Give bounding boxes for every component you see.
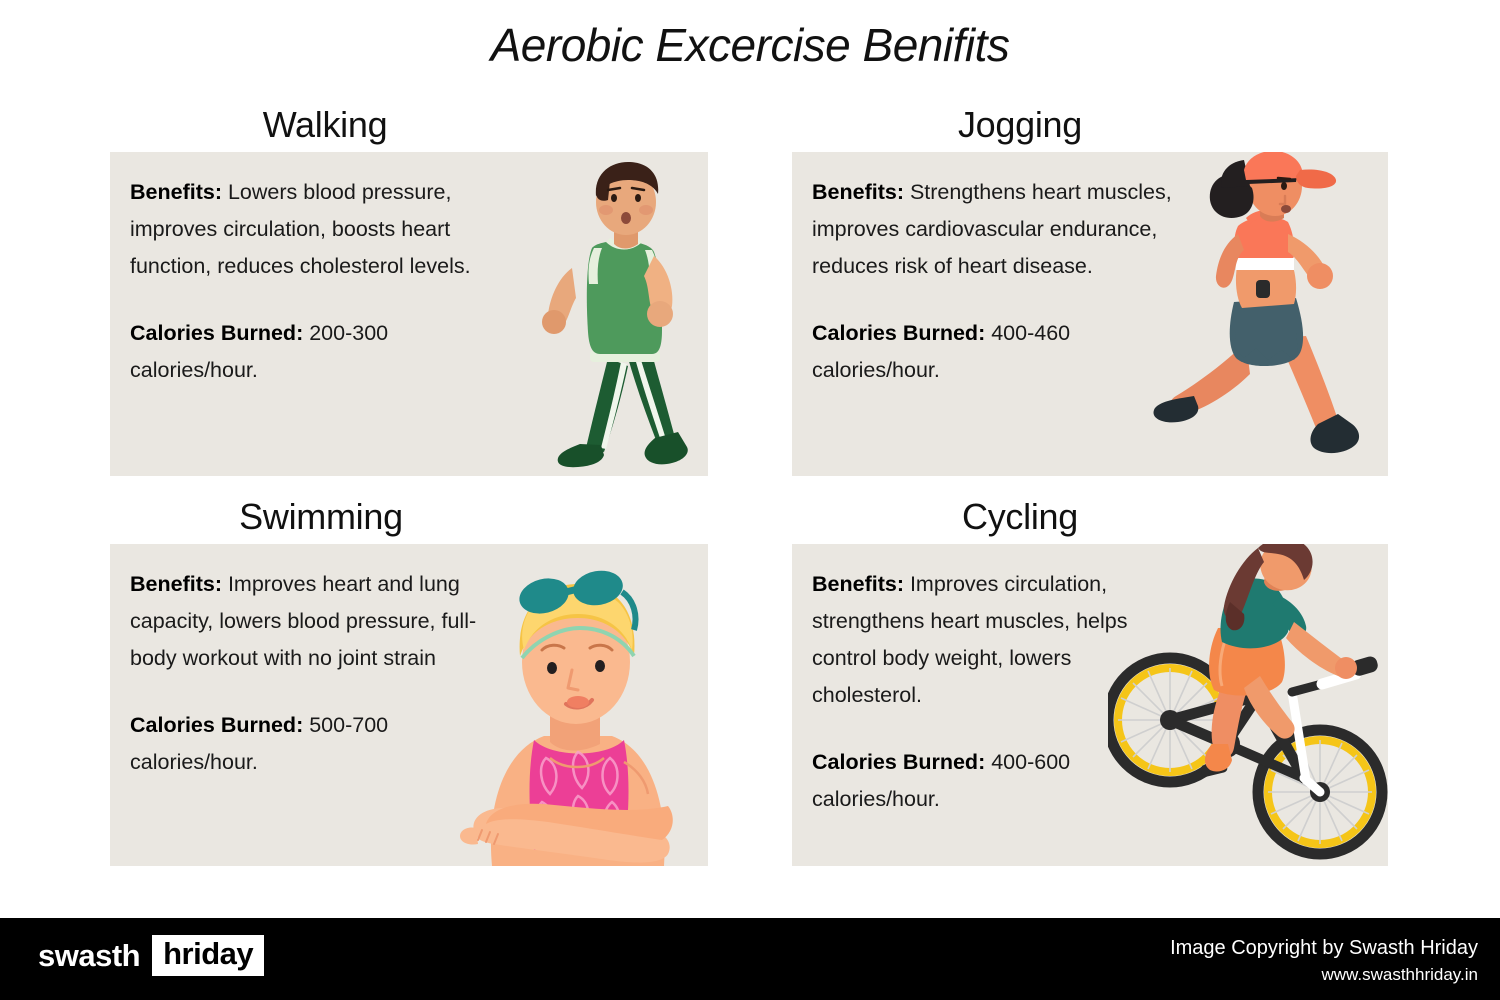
paragraph-gap <box>812 285 1186 315</box>
benefits-paragraph: Benefits: Strengthens heart muscles, imp… <box>812 174 1186 285</box>
infographic-page: Aerobic Excercise Benifits Walking Benef… <box>0 0 1500 1000</box>
card-body: Benefits: Lowers blood pressure, improve… <box>110 152 708 476</box>
calories-paragraph: Calories Burned: 200-300 calories/hour. <box>130 315 508 389</box>
calories-label: Calories Burned: <box>812 321 985 345</box>
calories-label: Calories Burned: <box>130 321 303 345</box>
card-heading: Walking <box>110 100 708 152</box>
card-heading: Cycling <box>792 492 1388 544</box>
brand-logo-word-2: hriday <box>152 935 264 976</box>
card-text: Benefits: Improves circulation, strength… <box>812 566 1186 818</box>
calories-paragraph: Calories Burned: 500-700 calories/hour. <box>130 707 508 781</box>
calories-label: Calories Burned: <box>130 713 303 737</box>
cyclist-rider <box>1205 544 1357 772</box>
walking-man-svg <box>488 152 708 476</box>
card-text: Benefits: Strengthens heart muscles, imp… <box>812 174 1186 389</box>
copyright-block: Image Copyright by Swasth Hriday www.swa… <box>1170 934 1478 988</box>
brand-logo-word-1: swasth <box>38 938 152 974</box>
paragraph-gap <box>130 285 508 315</box>
benefits-label: Benefits: <box>812 572 904 596</box>
benefits-paragraph: Benefits: Lowers blood pressure, improve… <box>130 174 508 285</box>
card-text: Benefits: Lowers blood pressure, improve… <box>130 174 508 389</box>
paragraph-gap <box>812 714 1186 744</box>
exercise-card-swimming: Swimming Benefits: Improves heart and lu… <box>110 492 708 866</box>
benefits-paragraph: Benefits: Improves heart and lung capaci… <box>130 566 508 677</box>
benefits-label: Benefits: <box>812 180 904 204</box>
exercise-card-cycling: Cycling Benefits: Improves circulation, … <box>792 492 1388 866</box>
benefits-label: Benefits: <box>130 180 222 204</box>
exercise-card-jogging: Jogging Benefits: Strengthens heart musc… <box>792 100 1388 476</box>
footer-bar: swasth hriday Image Copyright by Swasth … <box>0 918 1500 1000</box>
copyright-text: Image Copyright by Swasth Hriday <box>1170 934 1478 962</box>
calories-paragraph: Calories Burned: 400-600 calories/hour. <box>812 744 1186 818</box>
card-heading: Jogging <box>792 100 1388 152</box>
card-text: Benefits: Improves heart and lung capaci… <box>130 566 508 781</box>
website-url[interactable]: www.swasthhriday.in <box>1170 962 1478 988</box>
card-body: Benefits: Strengthens heart muscles, imp… <box>792 152 1388 476</box>
brand-logo[interactable]: swasth hriday <box>38 935 264 976</box>
card-body: Benefits: Improves heart and lung capaci… <box>110 544 708 866</box>
benefits-label: Benefits: <box>130 572 222 596</box>
benefits-paragraph: Benefits: Improves circulation, strength… <box>812 566 1186 714</box>
calories-label: Calories Burned: <box>812 750 985 774</box>
card-heading: Swimming <box>110 492 708 544</box>
calories-paragraph: Calories Burned: 400-460 calories/hour. <box>812 315 1186 389</box>
card-body: Benefits: Improves circulation, strength… <box>792 544 1388 866</box>
exercise-card-grid: Walking Benefits: Lowers blood pressure,… <box>0 0 1500 920</box>
exercise-card-walking: Walking Benefits: Lowers blood pressure,… <box>110 100 708 476</box>
paragraph-gap <box>130 677 508 707</box>
